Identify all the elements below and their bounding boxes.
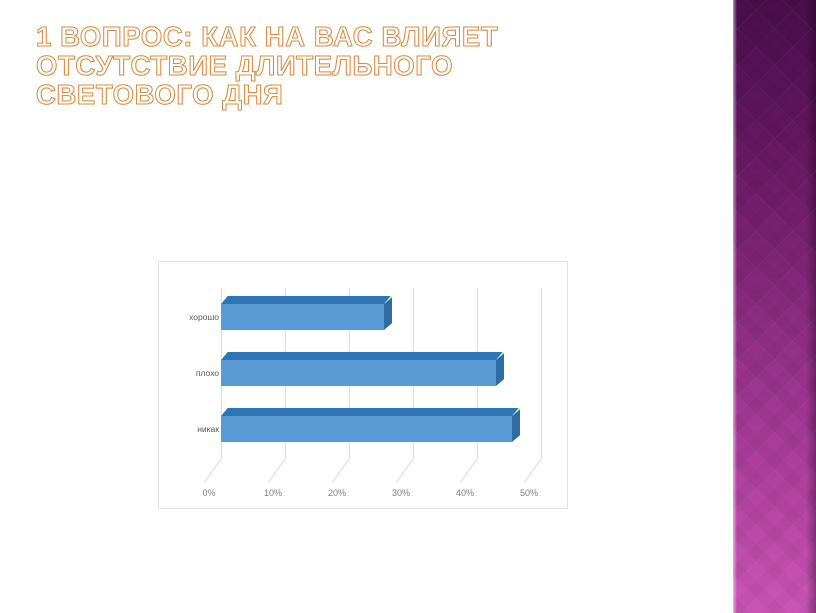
tick-leader [268, 458, 286, 483]
chart-plot-area: никакплохохорошо 0%10%20%30%40%50% [159, 262, 567, 508]
title-line-3: СВЕТОВОГО ДНЯ [36, 80, 656, 109]
bar-side-face [512, 409, 520, 442]
category-label-хорошо: хорошо [189, 312, 219, 322]
side-panel-left-edge [733, 0, 737, 613]
axis-tick-label: 0% [202, 488, 215, 498]
slide-canvas: 1 ВОПРОС: КАК НА ВАС ВЛИЯЕТ ОТСУТСТВИЕ Д… [0, 0, 816, 613]
bar-side-face [496, 353, 504, 386]
bar-front-face [221, 416, 512, 442]
bar-top-face [221, 296, 391, 304]
bar-front-face [221, 304, 384, 330]
tick-leader [332, 458, 350, 483]
chart-category-labels: никакплохохорошо [167, 262, 219, 508]
axis-tick-label: 20% [328, 488, 346, 498]
axis-tick-label: 10% [264, 488, 282, 498]
title-line-2: ОТСУТСТВИЕ ДЛИТЕЛЬНОГО [36, 51, 656, 80]
chart-container: никакплохохорошо 0%10%20%30%40%50% [158, 261, 568, 509]
bar-хорошо [221, 296, 384, 322]
page-title: 1 ВОПРОС: КАК НА ВАС ВЛИЯЕТ ОТСУТСТВИЕ Д… [36, 22, 656, 109]
side-panel-right-edge [806, 0, 816, 613]
bar-никак [221, 408, 512, 434]
axis-tick-label: 40% [456, 488, 474, 498]
decorative-side-panel [733, 0, 816, 613]
axis-tick-label: 50% [520, 488, 538, 498]
bar-top-face [221, 352, 503, 360]
tick-leader [524, 458, 542, 483]
bar-front-face [221, 360, 496, 386]
bar-плохо [221, 352, 496, 378]
bar-top-face [221, 408, 519, 416]
category-label-плохо: плохо [196, 368, 219, 378]
tick-leader [396, 458, 414, 483]
title-line-1: 1 ВОПРОС: КАК НА ВАС ВЛИЯЕТ [36, 22, 656, 51]
side-panel-texture [733, 0, 816, 613]
tick-leader [460, 458, 478, 483]
category-label-никак: никак [197, 424, 219, 434]
bar-side-face [384, 297, 392, 330]
gridline [541, 288, 542, 458]
axis-tick-label: 30% [392, 488, 410, 498]
